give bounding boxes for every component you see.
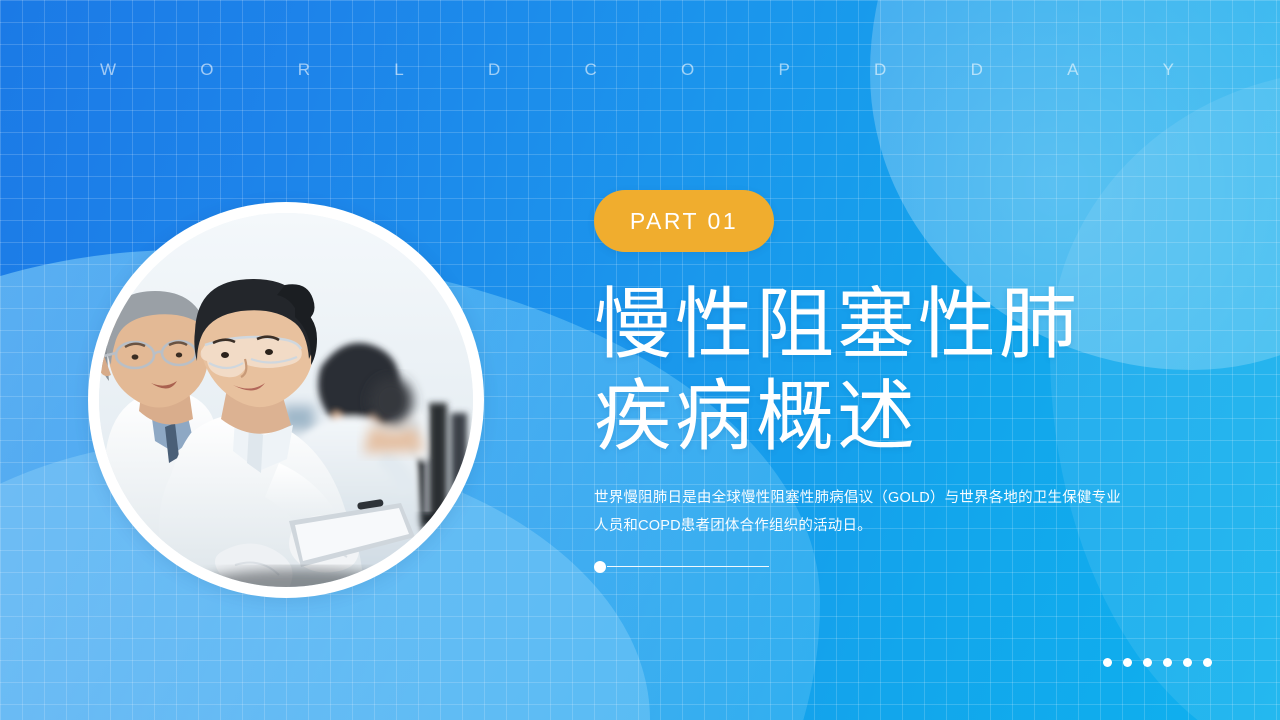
rule-line	[607, 566, 769, 568]
wordmark-letter: L	[394, 60, 404, 80]
pagination-dot[interactable]	[1103, 658, 1112, 667]
wordmark-letter: Y	[1163, 60, 1175, 80]
wordmark-letter: A	[1067, 60, 1079, 80]
wordmark-letter: D	[874, 60, 887, 80]
header-wordmark: W O R L D C O P D D A Y	[100, 60, 1175, 80]
wordmark-letter: C	[584, 60, 597, 80]
wordmark-letter: O	[200, 60, 214, 80]
pagination-dots[interactable]	[1103, 658, 1212, 667]
pagination-dot[interactable]	[1143, 658, 1152, 667]
wordmark-letter: D	[971, 60, 984, 80]
pagination-dot[interactable]	[1163, 658, 1172, 667]
slide-root: W O R L D C O P D D A Y	[0, 0, 1280, 720]
lab-team-photo	[99, 213, 473, 587]
pagination-dot[interactable]	[1123, 658, 1132, 667]
wordmark-letter: R	[298, 60, 311, 80]
photo-circle-frame	[88, 202, 484, 598]
rule-dot-icon	[594, 561, 606, 573]
content-column: PART 01 慢性阻塞性肺 疾病概述 世界慢阻肺日是由全球慢性阻塞性肺病倡议（…	[594, 190, 1194, 573]
page-title: 慢性阻塞性肺 疾病概述	[594, 278, 1194, 462]
headline-line-1: 慢性阻塞性肺	[594, 278, 1194, 370]
headline-line-2: 疾病概述	[594, 370, 1194, 462]
wordmark-letter: D	[488, 60, 501, 80]
part-badge[interactable]: PART 01	[594, 190, 774, 252]
wordmark-letter: W	[100, 60, 117, 80]
wordmark-letter: O	[681, 60, 695, 80]
body-paragraph: 世界慢阻肺日是由全球慢性阻塞性肺病倡议（GOLD）与世界各地的卫生保健专业人员和…	[594, 484, 1122, 541]
lab-scene-illustration	[99, 213, 473, 587]
pagination-dot[interactable]	[1183, 658, 1192, 667]
pagination-dot[interactable]	[1203, 658, 1212, 667]
wordmark-letter: P	[778, 60, 790, 80]
decorative-rule	[594, 561, 1194, 573]
